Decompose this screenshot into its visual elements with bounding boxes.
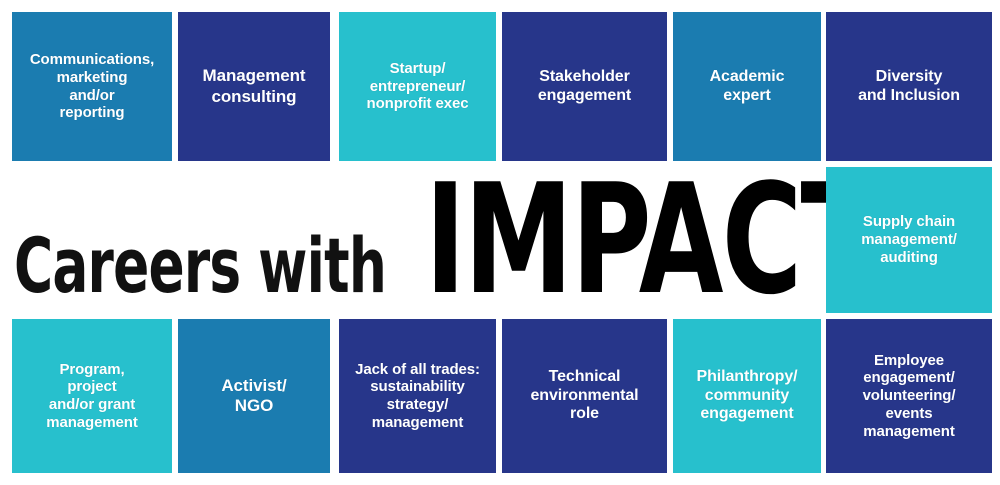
grid-cell-label: Communications, marketing and/or reporti… xyxy=(17,51,167,122)
grid-cell-technical-environmental-role[interactable]: Technical environmental role xyxy=(502,319,667,473)
title-careers-with: Careers with xyxy=(14,228,386,304)
grid-cell-label: Startup/ entrepreneur/ nonprofit exec xyxy=(344,60,491,113)
grid-cell-label: Academic expert xyxy=(678,68,816,106)
grid-cell-philanthropy-community-engagement[interactable]: Philanthropy/ community engagement xyxy=(673,319,821,473)
grid-cell-label: Jack of all trades: sustainability strat… xyxy=(344,361,491,432)
grid-cell-label: Technical environmental role xyxy=(507,368,662,425)
grid-cell-activist-ngo[interactable]: Activist/ NGO xyxy=(178,319,330,473)
grid-cell-stakeholder-engagement[interactable]: Stakeholder engagement xyxy=(502,12,667,161)
grid-cell-jack-of-all-trades[interactable]: Jack of all trades: sustainability strat… xyxy=(339,319,496,473)
title-impact: IMPACT xyxy=(425,164,826,316)
grid-cell-label: Philanthropy/ community engagement xyxy=(678,368,816,425)
careers-with-impact-poster: Communications, marketing and/or reporti… xyxy=(0,0,1000,485)
grid-cell-label: Management consulting xyxy=(183,66,325,106)
grid-cell-label: Stakeholder engagement xyxy=(507,68,662,106)
grid-cell-label: Diversity and Inclusion xyxy=(831,68,987,106)
grid-cell-management-consulting[interactable]: Management consulting xyxy=(178,12,330,161)
grid-cell-startup-entrepreneur-nonprofit-exec[interactable]: Startup/ entrepreneur/ nonprofit exec xyxy=(339,12,496,161)
grid-cell-label: Activist/ NGO xyxy=(183,376,325,416)
poster-title: Careers with IMPACT xyxy=(14,164,826,316)
grid-cell-label: Employee engagement/ volunteering/ event… xyxy=(831,352,987,440)
grid-cell-employee-engagement-volunteering-events[interactable]: Employee engagement/ volunteering/ event… xyxy=(826,319,992,473)
grid-cell-label: Supply chain management/ auditing xyxy=(831,213,987,266)
grid-cell-academic-expert[interactable]: Academic expert xyxy=(673,12,821,161)
grid-cell-label: Program, project and/or grant management xyxy=(17,361,167,432)
grid-cell-diversity-and-inclusion[interactable]: Diversity and Inclusion xyxy=(826,12,992,161)
poster-title-band: Careers with IMPACT xyxy=(0,163,826,317)
grid-cell-communications-marketing-reporting[interactable]: Communications, marketing and/or reporti… xyxy=(12,12,172,161)
grid-cell-program-project-grant-management[interactable]: Program, project and/or grant management xyxy=(12,319,172,473)
grid-cell-supply-chain-management-auditing[interactable]: Supply chain management/ auditing xyxy=(826,167,992,313)
